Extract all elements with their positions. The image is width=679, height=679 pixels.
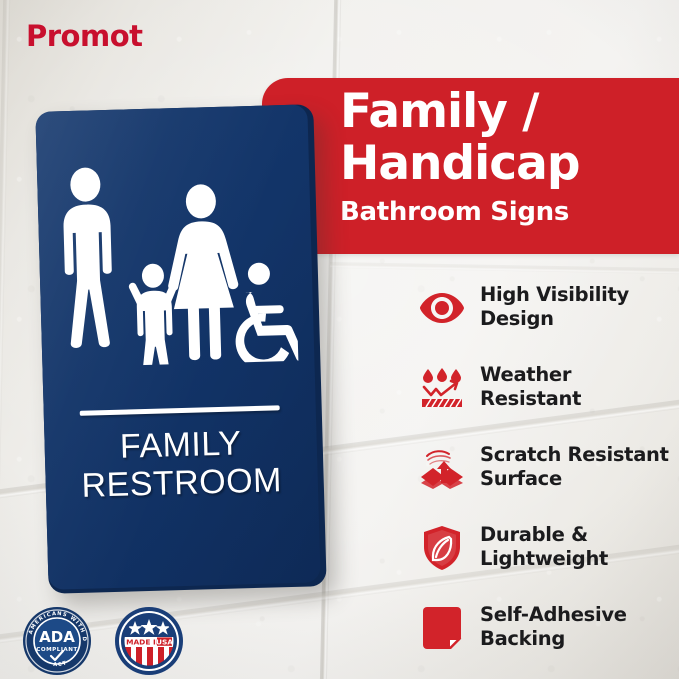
- feature-list: High Visibility Design: [418, 282, 673, 679]
- ada-main-text: ADA: [39, 628, 75, 646]
- certification-badges: AMERICANS WITH DISABILITIES ACT ADA COMP…: [22, 606, 184, 676]
- sign-face: FAMILY RESTROOM: [35, 104, 320, 589]
- water-drop-icon: [418, 364, 466, 412]
- brand-logo: Promot: [26, 19, 142, 53]
- feature-item: Durable & Lightweight: [418, 522, 673, 594]
- feature-item: Scratch Resistant Surface: [418, 442, 673, 514]
- feature-item: High Visibility Design: [418, 282, 673, 354]
- feature-label: High Visibility Design: [480, 282, 629, 331]
- feature-label: Scratch Resistant Surface: [480, 442, 669, 491]
- sign-pictograms: [53, 161, 298, 368]
- scratch-layers-icon: [418, 444, 466, 492]
- woman-pictogram: [165, 183, 240, 360]
- wheelchair-pictogram: [233, 262, 298, 368]
- product-infographic: Promot Family / Handicap Bathroom Signs: [0, 0, 679, 679]
- headline-banner: Family / Handicap Bathroom Signs: [262, 78, 679, 254]
- page-title: Family / Handicap: [340, 86, 671, 190]
- usa-accent-text: USA: [156, 637, 173, 646]
- ada-compliant-badge: AMERICANS WITH DISABILITIES ACT ADA COMP…: [22, 606, 92, 676]
- feature-label: Weather Resistant: [480, 362, 581, 411]
- adhesive-peel-icon: [418, 604, 466, 652]
- feature-label: Self-Adhesive Backing: [480, 602, 627, 651]
- eye-icon: [418, 284, 466, 332]
- shield-feather-icon: [418, 524, 466, 572]
- ada-sub-text: COMPLIANT: [36, 647, 78, 653]
- feature-item: Self-Adhesive Backing: [418, 602, 673, 674]
- man-pictogram: [62, 167, 114, 348]
- sign-caption: FAMILY RESTROOM: [44, 422, 318, 506]
- feature-item: Weather Resistant: [418, 362, 673, 434]
- page-subtitle: Bathroom Signs: [340, 196, 671, 228]
- made-in-usa-badge: MADE IN USA: [114, 606, 184, 676]
- feature-label: Durable & Lightweight: [480, 522, 608, 571]
- product-sign: FAMILY RESTROOM: [35, 104, 326, 594]
